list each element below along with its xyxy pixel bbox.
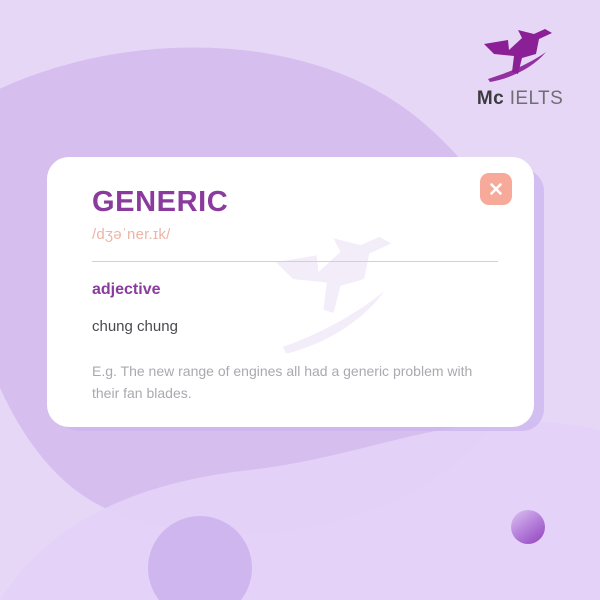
hummingbird-origami-icon <box>482 28 558 83</box>
gradient-sphere-decoration <box>511 510 545 544</box>
close-button[interactable] <box>480 173 512 205</box>
part-of-speech: adjective <box>92 281 489 299</box>
word-meaning: chung chung <box>92 318 489 335</box>
brand-name-light: IELTS <box>510 88 563 109</box>
word-example: E.g. The new range of engines all had a … <box>92 361 489 404</box>
word-card: GENERIC /dʒəˈner.ɪk/ adjective chung chu… <box>47 157 534 427</box>
card-content: GENERIC /dʒəˈner.ɪk/ adjective chung chu… <box>47 157 534 427</box>
vocabulary-card-screen: Mc IELTS GENERIC /dʒəˈner.ɪk/ adjective … <box>0 0 600 600</box>
brand-wordmark: Mc IELTS <box>470 88 570 110</box>
brand-logo: Mc IELTS <box>470 28 570 110</box>
word-phonetic: /dʒəˈner.ɪk/ <box>92 226 489 243</box>
card-divider <box>92 261 498 262</box>
word-title: GENERIC <box>92 187 489 217</box>
brand-name-bold: Mc <box>477 88 504 109</box>
close-icon <box>489 182 503 196</box>
